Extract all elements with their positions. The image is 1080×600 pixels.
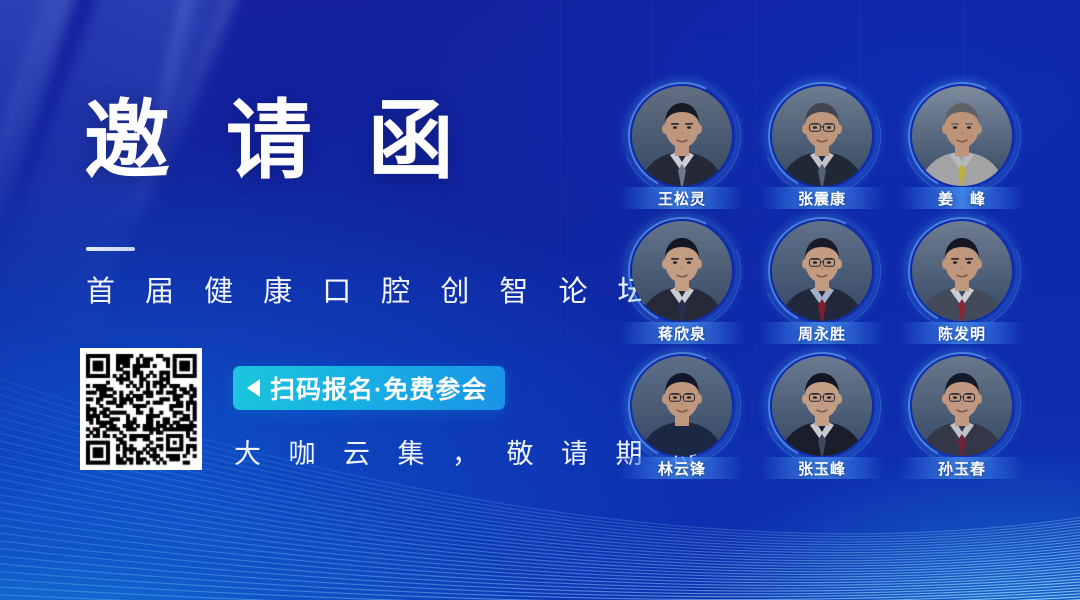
speaker-name-plate: 张震康 bbox=[760, 187, 884, 209]
avatar bbox=[912, 86, 1012, 186]
speaker-name: 张震康 bbox=[798, 188, 846, 209]
speaker-photo bbox=[632, 356, 732, 456]
speaker-photo bbox=[912, 221, 1012, 321]
speaker-name: 林云锋 bbox=[658, 458, 706, 479]
speaker-name-plate: 陈发明 bbox=[900, 322, 1024, 344]
avatar bbox=[632, 356, 732, 456]
speaker-card[interactable]: 周永胜 bbox=[752, 221, 892, 356]
speaker-card[interactable]: 张震康 bbox=[752, 86, 892, 221]
speaker-name: 陈发明 bbox=[938, 323, 986, 344]
speaker-card[interactable]: 陈发明 bbox=[892, 221, 1032, 356]
avatar-ring bbox=[912, 221, 1012, 321]
speaker-photo bbox=[632, 221, 732, 321]
speaker-name-plate: 蒋欣泉 bbox=[620, 322, 744, 344]
speaker-photo bbox=[772, 356, 872, 456]
qr-code-canvas bbox=[80, 348, 202, 470]
avatar bbox=[772, 356, 872, 456]
speaker-photo bbox=[912, 86, 1012, 186]
speaker-name: 孙玉春 bbox=[938, 458, 986, 479]
speaker-name-plate: 张玉峰 bbox=[760, 457, 884, 479]
avatar bbox=[912, 356, 1012, 456]
page-subtitle: 首 届 健 康 口 腔 创 智 论 坛 bbox=[86, 268, 658, 310]
speaker-name-plate: 周永胜 bbox=[760, 322, 884, 344]
speaker-name: 王松灵 bbox=[658, 188, 706, 209]
avatar bbox=[912, 221, 1012, 321]
speaker-name-plate: 姜 峰 bbox=[900, 187, 1024, 209]
left-content-column: 邀 请 函 首 届 健 康 口 腔 创 智 论 坛 扫码报名·免费参会 大 咖 … bbox=[0, 0, 600, 600]
speaker-photo bbox=[772, 86, 872, 186]
speaker-card[interactable]: 孙玉春 bbox=[892, 356, 1032, 491]
speaker-name: 蒋欣泉 bbox=[658, 323, 706, 344]
avatar-ring bbox=[632, 86, 732, 186]
speaker-name: 姜 峰 bbox=[938, 188, 986, 209]
avatar-ring bbox=[772, 221, 872, 321]
speaker-card[interactable]: 林云锋 bbox=[612, 356, 752, 491]
speaker-card[interactable]: 蒋欣泉 bbox=[612, 221, 752, 356]
register-button-label: 扫码报名·免费参会 bbox=[270, 370, 487, 406]
avatar-ring bbox=[912, 356, 1012, 456]
speaker-name: 张玉峰 bbox=[798, 458, 846, 479]
left-arrow-icon bbox=[247, 379, 260, 397]
speaker-photo bbox=[632, 86, 732, 186]
title-divider bbox=[86, 247, 135, 251]
avatar-ring bbox=[772, 356, 872, 456]
speaker-grid: 王松灵张震康姜 峰蒋欣泉周永胜陈发明林云锋张玉峰孙玉春 bbox=[612, 86, 1032, 491]
avatar-ring bbox=[912, 86, 1012, 186]
speaker-card[interactable]: 王松灵 bbox=[612, 86, 752, 221]
avatar-ring bbox=[772, 86, 872, 186]
avatar bbox=[632, 221, 732, 321]
speaker-photo bbox=[912, 356, 1012, 456]
speaker-photo bbox=[772, 221, 872, 321]
speaker-name-plate: 林云锋 bbox=[620, 457, 744, 479]
speaker-name-plate: 孙玉春 bbox=[900, 457, 1024, 479]
speaker-name-plate: 王松灵 bbox=[620, 187, 744, 209]
avatar bbox=[772, 221, 872, 321]
speaker-name: 周永胜 bbox=[798, 323, 846, 344]
avatar bbox=[632, 86, 732, 186]
speaker-card[interactable]: 张玉峰 bbox=[752, 356, 892, 491]
page-title: 邀 请 函 bbox=[84, 98, 470, 184]
avatar-ring bbox=[632, 356, 732, 456]
qr-code[interactable] bbox=[80, 348, 202, 470]
speaker-card[interactable]: 姜 峰 bbox=[892, 86, 1032, 221]
avatar bbox=[772, 86, 872, 186]
avatar-ring bbox=[632, 221, 732, 321]
invitation-poster: 邀 请 函 首 届 健 康 口 腔 创 智 论 坛 扫码报名·免费参会 大 咖 … bbox=[0, 0, 1080, 600]
register-button[interactable]: 扫码报名·免费参会 bbox=[233, 366, 505, 410]
